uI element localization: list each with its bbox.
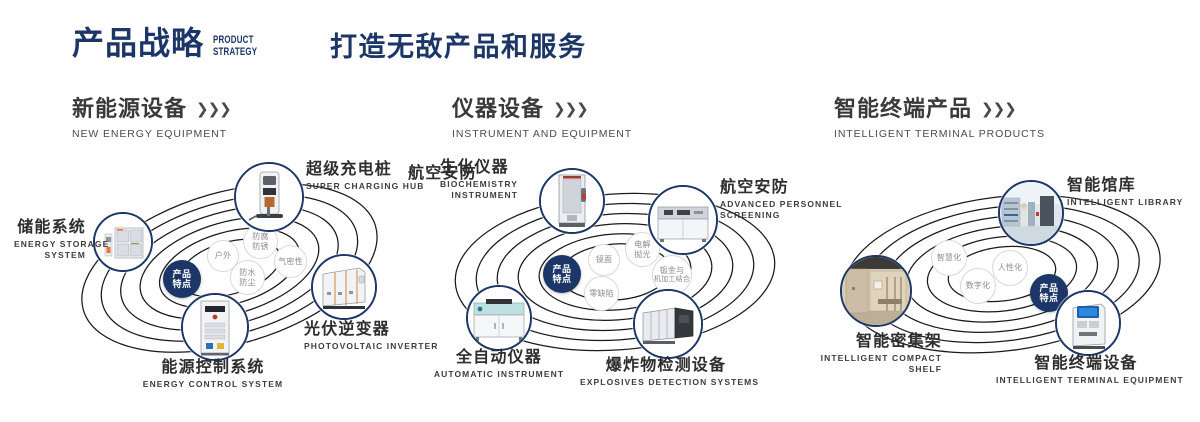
chevron-right-icon: ❯❯❯ — [196, 102, 231, 117]
product-label-cn: 储能系统 — [14, 218, 86, 237]
product-strategy-infographic: 产品战略 PRODUCT STRATEGY 打造无敌产品和服务 新能源设备 ❯❯… — [0, 0, 1200, 422]
section-heading-en: NEW ENERGY EQUIPMENT — [72, 128, 231, 140]
feature-bubble-airtight: 气密性 — [274, 245, 307, 278]
feature-bubble-label: 气密性 — [278, 257, 303, 267]
library-room-icon — [1000, 182, 1062, 244]
product-label-en-line1: INTELLIGENT COMPACT — [782, 353, 942, 364]
section-heading-cn: 仪器设备 ❯❯❯ — [452, 96, 632, 122]
product-node-automatic-analyzer[interactable] — [466, 285, 532, 351]
charging-pile-icon — [236, 164, 302, 230]
core-bubble: 产品 特点 — [543, 255, 581, 293]
section-heading-label: 智能终端产品 — [834, 96, 972, 122]
feature-bubble-label: 数字化 — [966, 281, 991, 291]
feature-bubble-label-line1: 防腐 — [252, 232, 268, 242]
product-label-en-line1: AUTOMATIC INSTRUMENT — [412, 369, 586, 380]
product-label-cn: 智能终端设备 — [996, 354, 1176, 373]
feature-bubble-label-line2: 机加工结合 — [654, 275, 690, 285]
product-label-en-line2: SYSTEM — [14, 250, 86, 261]
product-node-biochem-scanner[interactable] — [539, 168, 605, 234]
product-node-screening-machine[interactable] — [648, 185, 718, 255]
product-label-en-line1: EXPLOSIVES DETECTION SYSTEMS — [580, 377, 752, 388]
product-label-en-line1: INTELLIGENT TERMINAL EQUIPMENT — [996, 375, 1176, 386]
product-node-control-cabinet[interactable] — [181, 293, 249, 361]
page-title-en-line2: STRATEGY — [213, 47, 257, 59]
feature-bubble-label-line1: 钣金与 — [654, 266, 690, 276]
product-label-cn: 爆炸物检测设备 — [580, 356, 752, 375]
product-node-terminal-kiosk[interactable] — [1055, 290, 1121, 356]
feature-bubble-waterproof: 防水 防尘 — [230, 260, 265, 295]
section-heading-label: 新能源设备 — [72, 96, 187, 122]
cluster-instrument: 产品 特点 镜面 电解 抛光 零缺陷 钣金与 机加工结合 — [420, 150, 810, 394]
product-label-en-line1: INTELLIGENT LIBRARY — [1067, 197, 1183, 208]
section-heading-cn: 智能终端产品 ❯❯❯ — [834, 96, 1045, 122]
section-heading-new-energy: 新能源设备 ❯❯❯ NEW ENERGY EQUIPMENT — [72, 96, 231, 140]
feature-bubble-label-line2: 抛光 — [634, 250, 650, 260]
feature-bubble-label: 零缺陷 — [589, 289, 614, 299]
core-bubble-line2: 特点 — [1039, 293, 1058, 304]
section-heading-en: INSTRUMENT AND EQUIPMENT — [452, 128, 632, 140]
product-label-control-cabinet: 能源控制系统 ENERGY CONTROL SYSTEM — [126, 358, 300, 390]
section-heading-intelligent-terminal: 智能终端产品 ❯❯❯ INTELLIGENT TERMINAL PRODUCTS — [834, 96, 1045, 140]
feature-bubble-label-line2: 防尘 — [239, 278, 255, 288]
cluster-new-energy: 产品 特点 户外 防腐 防锈 防水 防尘 气密性 — [40, 150, 420, 390]
product-label-cn: 智能密集架 — [782, 332, 942, 351]
section-heading-instrument: 仪器设备 ❯❯❯ INSTRUMENT AND EQUIPMENT — [452, 96, 632, 140]
product-node-compact-shelf[interactable] — [840, 255, 912, 327]
product-label-en-line1: ENERGY STORAGE — [14, 239, 86, 250]
product-label-explosives-detector: 爆炸物检测设备 EXPLOSIVES DETECTION SYSTEMS — [580, 356, 752, 388]
product-label-cn: 超级充电桩 — [306, 160, 425, 179]
feature-bubble-label: 户外 — [215, 251, 231, 261]
section-heading-cn: 新能源设备 ❯❯❯ — [72, 96, 231, 122]
product-label-energy-storage: 储能系统 ENERGY STORAGE SYSTEM — [14, 218, 86, 261]
product-label-cn: 能源控制系统 — [126, 358, 300, 377]
product-node-intelligent-library[interactable] — [998, 180, 1064, 246]
feature-bubble-label: 人性化 — [998, 263, 1023, 273]
automatic-analyzer-icon — [468, 287, 530, 349]
product-label-compact-shelf: 智能密集架 INTELLIGENT COMPACT SHELF — [782, 332, 942, 375]
page-title-en-line1: PRODUCT — [213, 35, 257, 47]
page-title-cn: 产品战略 — [72, 26, 204, 60]
core-bubble: 产品 特点 — [163, 260, 201, 298]
product-label-aviation-security-left: 航空安防 — [408, 164, 477, 183]
core-bubble-line1: 产品 — [172, 269, 191, 280]
chevron-right-icon: ❯❯❯ — [981, 102, 1016, 117]
product-label-en-line2: INSTRUMENT — [440, 190, 518, 201]
product-label-en-line1: ENERGY CONTROL SYSTEM — [126, 379, 300, 390]
pv-inverter-icon — [313, 256, 375, 318]
control-cabinet-icon — [183, 295, 247, 359]
cluster-intelligent-terminal: 产品 特点 智慧化 数字化 人性化 — [812, 150, 1200, 398]
feature-bubble-humanized: 人性化 — [992, 250, 1028, 286]
feature-bubble-label-line1: 电解 — [634, 240, 650, 250]
screening-machine-icon — [650, 187, 716, 253]
feature-bubble-label: 镜面 — [596, 255, 612, 265]
terminal-kiosk-icon — [1057, 292, 1119, 354]
core-bubble-line2: 特点 — [552, 274, 571, 285]
page-title: 产品战略 PRODUCT STRATEGY — [72, 26, 275, 60]
product-node-explosives-detector[interactable] — [633, 289, 703, 359]
page-title-en: PRODUCT STRATEGY — [213, 35, 257, 58]
feature-bubble-digital: 数字化 — [960, 268, 996, 304]
product-label-intelligent-library: 智能馆库 INTELLIGENT LIBRARY — [1067, 176, 1183, 208]
feature-bubble-zero-defect: 零缺陷 — [584, 276, 619, 311]
product-label-cn: 光伏逆变器 — [304, 320, 439, 339]
explosives-detector-icon — [635, 291, 701, 357]
product-label-cn: 航空安防 — [408, 164, 477, 183]
section-heading-label: 仪器设备 — [452, 96, 544, 122]
core-bubble-line1: 产品 — [1039, 283, 1058, 294]
product-label-cn: 全自动仪器 — [412, 348, 586, 367]
product-node-charging-pile[interactable] — [234, 162, 304, 232]
feature-bubble-mirror: 镜面 — [588, 244, 620, 276]
biochem-scanner-icon — [541, 170, 603, 232]
product-node-pv-inverter[interactable] — [311, 254, 377, 320]
product-label-charging-pile: 超级充电桩 SUPER CHARGING HUB — [306, 160, 425, 192]
compact-shelf-icon — [842, 257, 910, 325]
feature-bubble-label-line2: 防锈 — [252, 242, 268, 252]
core-bubble-line2: 特点 — [172, 279, 191, 290]
product-label-terminal-kiosk: 智能终端设备 INTELLIGENT TERMINAL EQUIPMENT — [996, 354, 1176, 386]
feature-bubble-smart: 智慧化 — [931, 240, 967, 276]
section-heading-en: INTELLIGENT TERMINAL PRODUCTS — [834, 128, 1045, 140]
core-bubble-line1: 产品 — [552, 264, 571, 275]
page-subtitle: 打造无敌产品和服务 — [330, 30, 587, 64]
product-label-en-line1: SUPER CHARGING HUB — [306, 181, 425, 192]
product-label-en-line2: SHELF — [782, 364, 942, 375]
feature-bubble-label-line1: 防水 — [239, 268, 255, 278]
chevron-right-icon: ❯❯❯ — [553, 102, 588, 117]
product-label-automatic-analyzer: 全自动仪器 AUTOMATIC INSTRUMENT — [412, 348, 586, 380]
product-label-cn: 智能馆库 — [1067, 176, 1183, 195]
feature-bubble-label: 智慧化 — [937, 253, 962, 263]
